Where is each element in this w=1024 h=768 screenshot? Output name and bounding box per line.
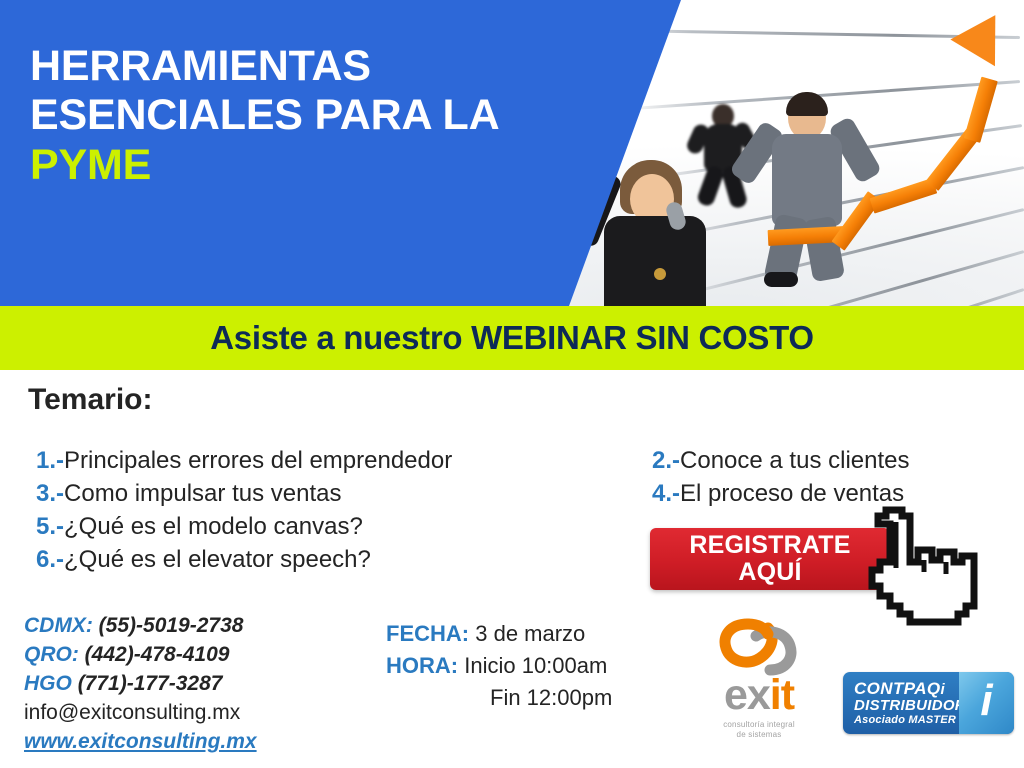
hero-section: HERRAMIENTAS ESENCIALES PARA LA PyME	[0, 0, 1024, 306]
agenda-item-label: ¿Qué es el modelo canvas?	[64, 513, 363, 540]
torso	[604, 216, 706, 306]
exit-infinity-mark-icon	[718, 616, 798, 678]
contpaqi-brand: CONTPAQ	[854, 679, 941, 698]
event-time-start: Inicio 10:00am	[464, 653, 607, 678]
event-details: FECHA: 3 de marzo HORA: Inicio 10:00am F…	[386, 618, 612, 714]
agenda-title: Temario:	[28, 383, 152, 417]
arrow-head-icon	[950, 2, 1017, 66]
agenda-item-number: 3.-	[36, 480, 64, 507]
contact-phone: (55)-5019-2738	[99, 614, 244, 637]
agenda-item-number: 6.-	[36, 546, 64, 573]
pointing-hand-cursor-icon	[868, 506, 1000, 634]
agenda-item: 5.-¿Qué es el modelo canvas?	[36, 510, 636, 543]
headline-line-2: ESENCIALES PARA LA	[30, 91, 499, 139]
exit-wordmark: exit	[700, 674, 818, 717]
contact-phone: (771)-177-3287	[78, 672, 223, 695]
arrow-segment	[870, 178, 938, 214]
contact-website-link[interactable]: www.exitconsulting.mx	[24, 728, 257, 757]
contpaqi-i-emblem: i	[959, 672, 1014, 734]
agenda-item: 6.-¿Qué es el elevator speech?	[36, 543, 636, 576]
contpaqi-brand-i: i	[941, 681, 946, 698]
agenda-item: 1.-Principales errores del emprendedor	[36, 444, 636, 477]
event-time-end-row: Fin 12:00pm	[386, 682, 612, 714]
exit-tagline: consultoría integral de sistemas	[700, 720, 818, 740]
contpaqi-distributor-badge: CONTPAQi DISTRIBUIDOR Asociado MASTER i	[843, 672, 1014, 734]
contact-email[interactable]: info@exitconsulting.mx	[24, 699, 257, 728]
event-time-end: Fin 12:00pm	[490, 685, 612, 710]
agenda-item-number: 1.-	[36, 447, 64, 474]
contpaqi-text-block: CONTPAQi DISTRIBUIDOR Asociado MASTER	[854, 680, 966, 728]
contact-label: HGO	[24, 672, 72, 695]
agenda-item-number: 4.-	[652, 480, 680, 507]
webinar-banner-text: Asiste a nuestro WEBINAR SIN COSTO	[210, 319, 813, 357]
agenda-item-number: 2.-	[652, 447, 680, 474]
contact-phone: (442)-478-4109	[85, 643, 230, 666]
registrate-aqui-button[interactable]: REGISTRATE AQUÍ	[650, 528, 890, 590]
button	[654, 268, 666, 280]
agenda-item-number: 5.-	[36, 513, 64, 540]
exit-word-ex: ex	[724, 671, 770, 719]
contact-label: QRO:	[24, 643, 79, 666]
exit-tagline-line-2: de sistemas	[700, 730, 818, 740]
event-time-label: HORA:	[386, 653, 458, 678]
page-title: HERRAMIENTAS ESENCIALES PARA LA PyME	[30, 42, 650, 190]
agenda-right-column: 2.-Conoce a tus clientes 4.-El proceso d…	[652, 444, 1012, 510]
contpaqi-distribuidor-line: DISTRIBUIDOR	[854, 698, 966, 715]
exit-logo: exit consultoría integral de sistemas	[700, 616, 818, 748]
arrow-segment	[964, 77, 998, 143]
headline-line-1: HERRAMIENTAS	[30, 42, 371, 90]
contact-label: CDMX:	[24, 614, 93, 637]
contact-row: HGO (771)-177-3287	[24, 670, 257, 699]
cta-line-1: REGISTRATE	[650, 532, 890, 559]
contpaqi-brand-line: CONTPAQi	[854, 680, 966, 698]
agenda-item-label: El proceso de ventas	[680, 480, 904, 507]
contact-row: CDMX: (55)-5019-2738	[24, 612, 257, 641]
contact-row: QRO: (442)-478-4109	[24, 641, 257, 670]
event-date-value: 3 de marzo	[475, 621, 585, 646]
cta-line-2: AQUÍ	[650, 559, 890, 586]
exit-tagline-line-1: consultoría integral	[700, 720, 818, 730]
agenda-item: 3.-Como impulsar tus ventas	[36, 477, 636, 510]
exit-word-it: it	[770, 671, 794, 719]
growth-arrow-icon	[760, 6, 1020, 296]
event-time-row: HORA: Inicio 10:00am	[386, 650, 612, 682]
agenda-item-label: Principales errores del emprendedor	[64, 447, 452, 474]
agenda-item-label: Como impulsar tus ventas	[64, 480, 341, 507]
contact-block: CDMX: (55)-5019-2738 QRO: (442)-478-4109…	[24, 612, 257, 757]
agenda-left-column: 1.-Principales errores del emprendedor 3…	[36, 444, 636, 576]
poster: HERRAMIENTAS ESENCIALES PARA LA PyME Asi…	[0, 0, 1024, 768]
event-date-row: FECHA: 3 de marzo	[386, 618, 612, 650]
agenda-item-label: Conoce a tus clientes	[680, 447, 909, 474]
agenda-item-label: ¿Qué es el elevator speech?	[64, 546, 371, 573]
event-date-label: FECHA:	[386, 621, 469, 646]
headline-highlight-pyme: PyME	[30, 141, 650, 190]
webinar-banner: Asiste a nuestro WEBINAR SIN COSTO	[0, 306, 1024, 370]
agenda-item: 2.-Conoce a tus clientes	[652, 444, 1012, 477]
contpaqi-asociado-line: Asociado MASTER	[854, 714, 966, 727]
